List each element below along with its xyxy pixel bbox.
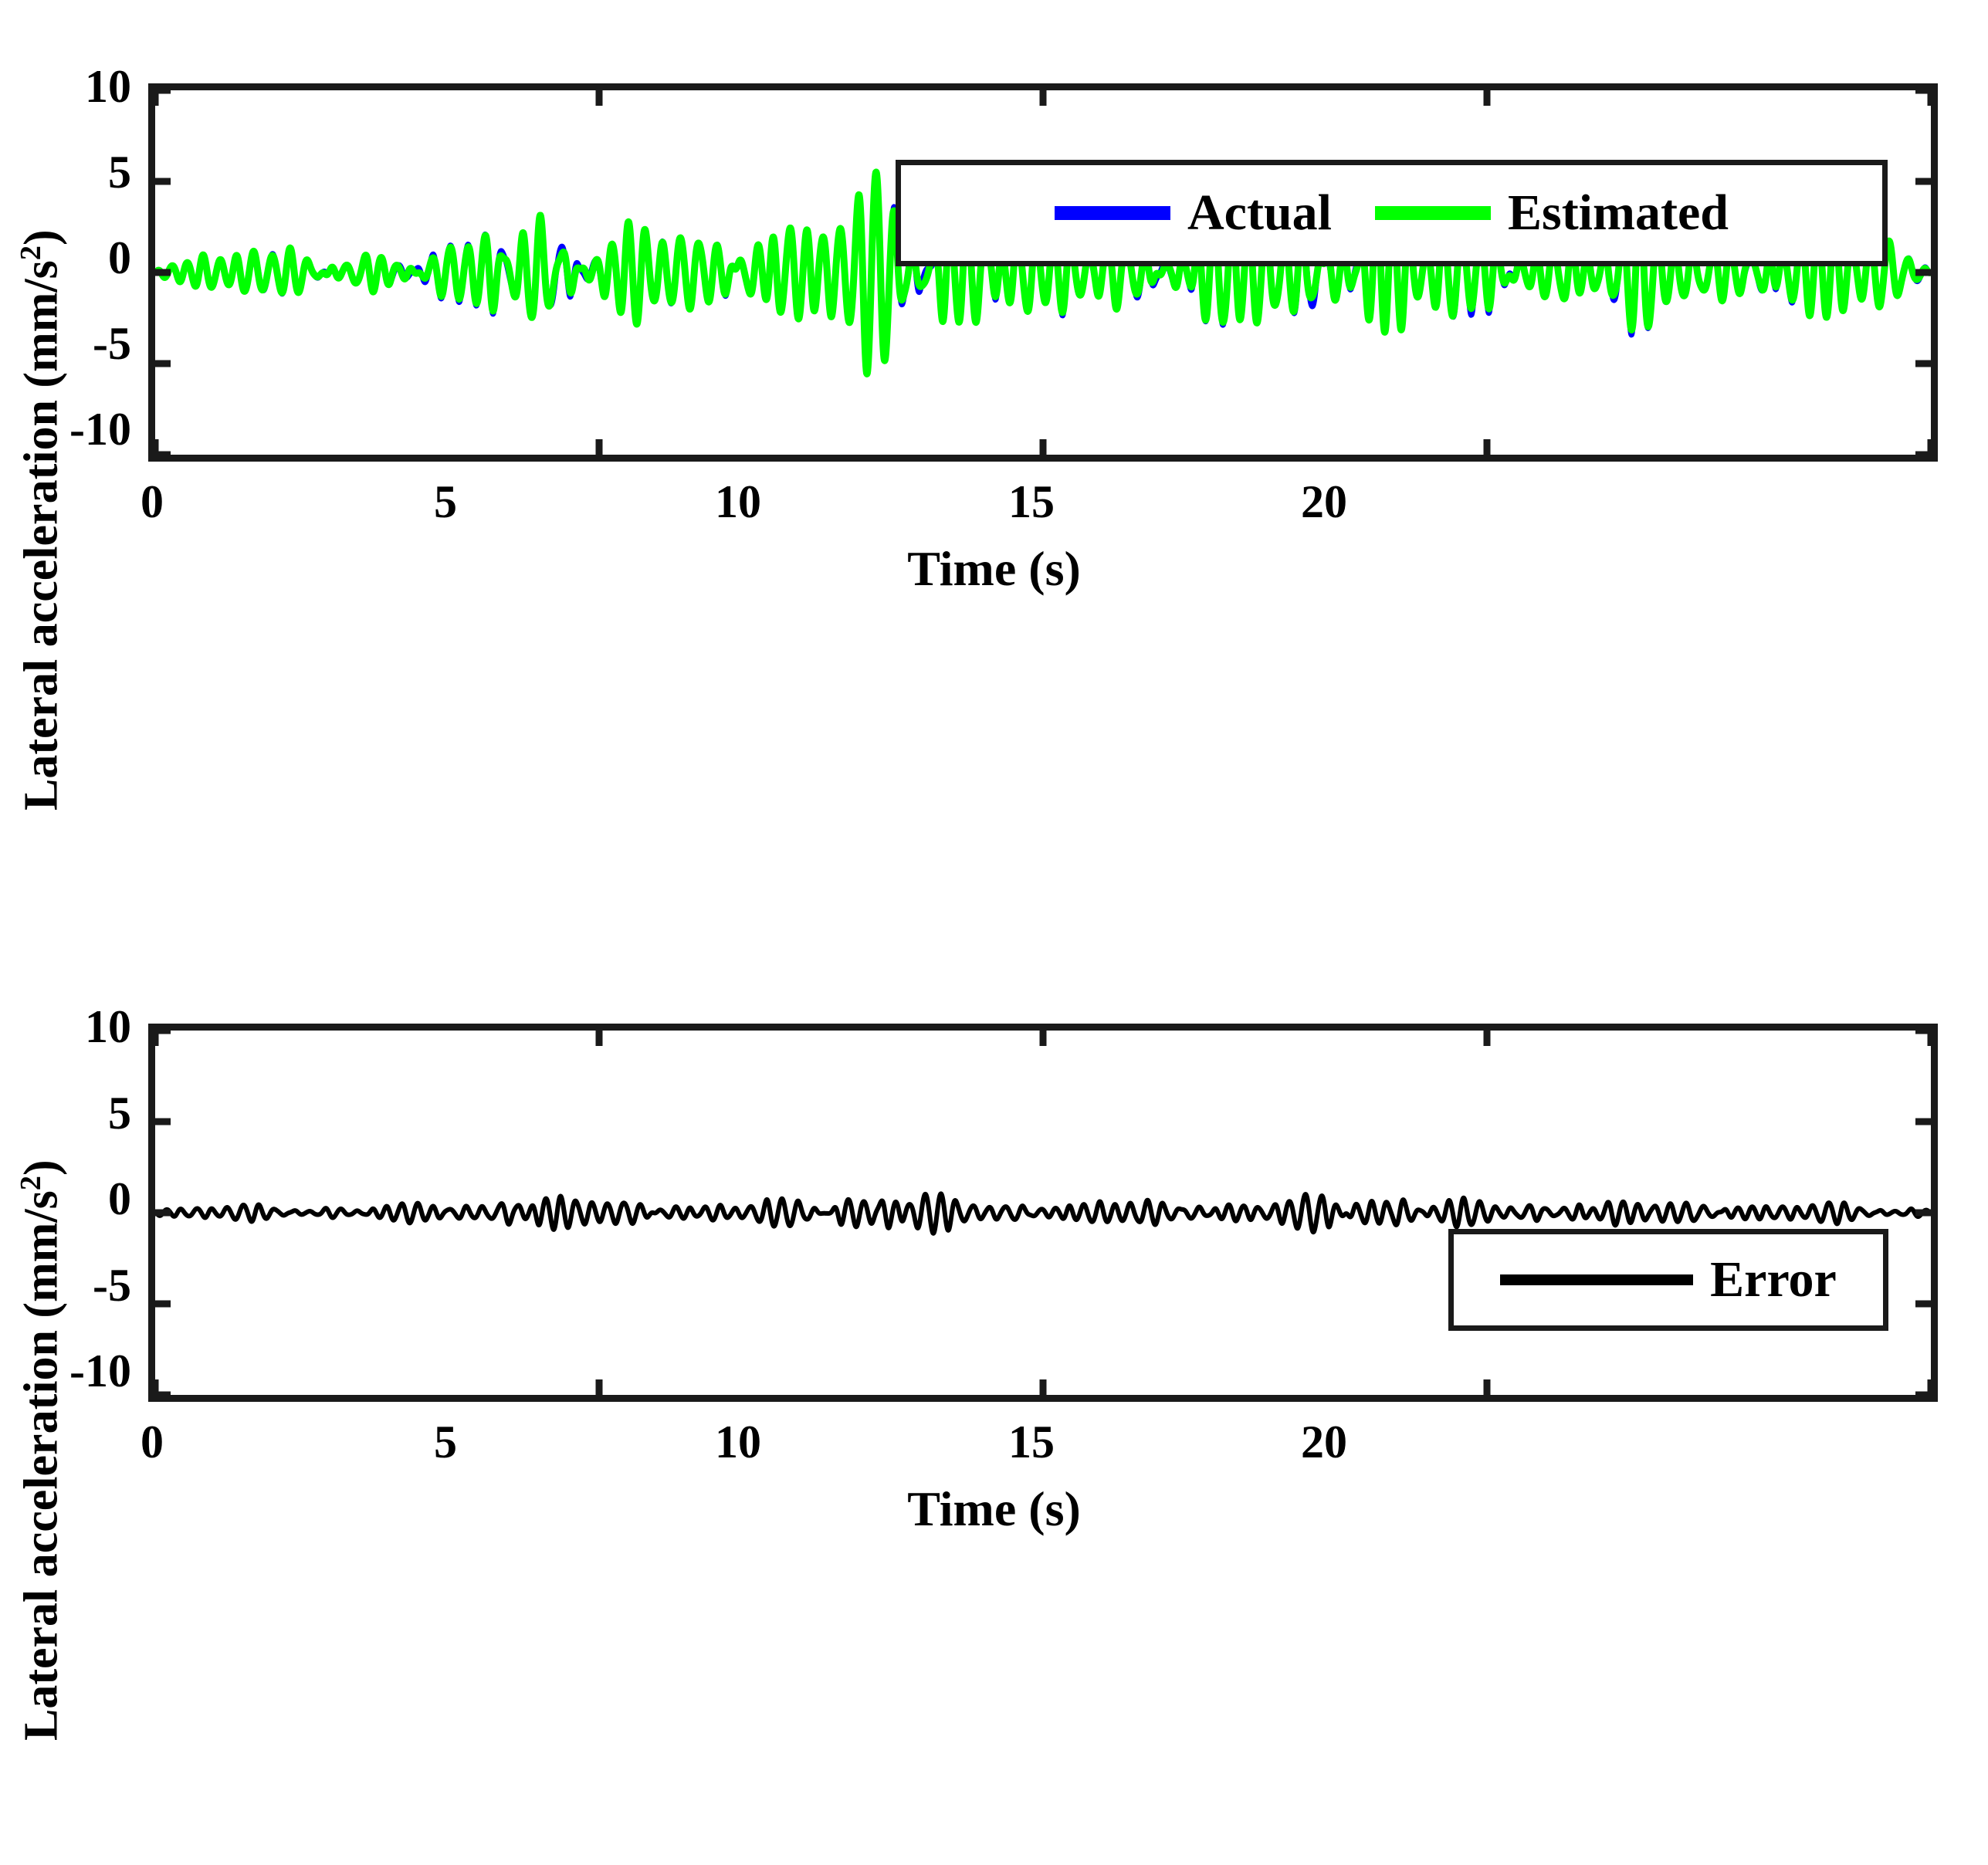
- figure-root: Lateral acceleration (mm/s2) 10 5 0 -5 -…: [0, 0, 1988, 1865]
- legend-label-actual: Actual: [1187, 188, 1332, 239]
- x-axis-label-top: Time (s): [0, 540, 1988, 597]
- x-tick-label-bottom-20: 20: [1258, 1419, 1390, 1465]
- plot-area-bottom: [148, 1024, 1938, 1402]
- y-axis-label-top: Lateral acceleration (mm/s2): [14, 229, 69, 811]
- x-tick-label-top-15: 15: [966, 479, 1097, 525]
- legend-entry-error[interactable]: Error: [1500, 1254, 1837, 1305]
- y-axis-label-bottom: Lateral acceleration (mm/s2): [14, 1159, 69, 1741]
- x-tick-label-top-0: 0: [86, 479, 218, 525]
- x-tick-label-bottom-0: 0: [86, 1419, 218, 1465]
- y-tick-label-bottom-minus10: -10: [46, 1348, 131, 1394]
- y-axis-label-bottom-paren: ): [15, 1159, 68, 1176]
- legend-bottom[interactable]: Error: [1448, 1229, 1888, 1331]
- plot-area-top: [148, 83, 1938, 462]
- x-axis-label-bottom: Time (s): [0, 1481, 1988, 1538]
- legend-entry-estimated[interactable]: Estimated: [1375, 188, 1729, 239]
- y-tick-label-bottom-5: 5: [46, 1090, 131, 1136]
- y-axis-label-bottom-superscript: 2: [15, 1176, 47, 1190]
- x-tick-label-bottom-10: 10: [672, 1419, 804, 1465]
- y-tick-label-top-0: 0: [46, 235, 131, 281]
- y-tick-label-top-5: 5: [46, 149, 131, 195]
- legend-entry-actual[interactable]: Actual: [1055, 188, 1332, 239]
- tick-marks: [155, 1031, 1931, 1395]
- legend-swatch-actual: [1055, 206, 1170, 220]
- x-tick-label-top-20: 20: [1258, 479, 1390, 525]
- y-axis-label-top-superscript: 2: [15, 245, 47, 260]
- y-tick-label-top-minus5: -5: [46, 320, 131, 367]
- x-tick-label-bottom-15: 15: [966, 1419, 1097, 1465]
- legend-top[interactable]: Actual Estimated: [896, 160, 1888, 266]
- y-tick-label-top-10: 10: [46, 63, 131, 110]
- legend-label-estimated: Estimated: [1508, 188, 1729, 239]
- x-tick-label-top-5: 5: [380, 479, 511, 525]
- y-tick-label-bottom-10: 10: [46, 1004, 131, 1050]
- y-tick-label-top-minus10: -10: [46, 406, 131, 452]
- legend-label-error: Error: [1710, 1254, 1837, 1305]
- panel-bottom: Lateral acceleration (mm/s2) 10 5 0 -5 -…: [0, 942, 1988, 1865]
- x-tick-label-bottom-5: 5: [380, 1419, 511, 1465]
- legend-swatch-estimated: [1375, 206, 1491, 220]
- legend-swatch-error: [1500, 1274, 1693, 1285]
- tick-marks: [155, 90, 1931, 455]
- panel-top: Lateral acceleration (mm/s2) 10 5 0 -5 -…: [0, 0, 1988, 942]
- y-tick-label-bottom-0: 0: [46, 1176, 131, 1222]
- y-tick-label-bottom-minus5: -5: [46, 1262, 131, 1308]
- x-tick-label-top-10: 10: [672, 479, 804, 525]
